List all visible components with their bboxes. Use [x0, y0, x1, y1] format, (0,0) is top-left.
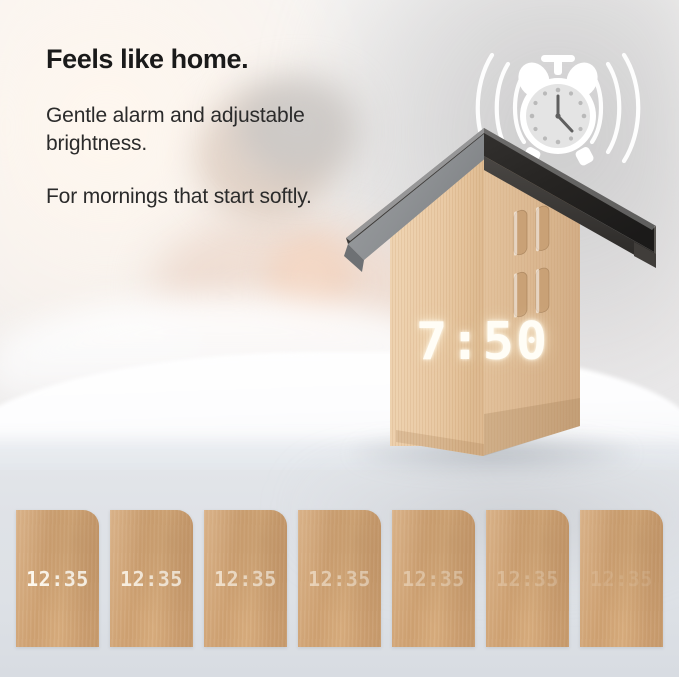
page-title: Feels like home.: [46, 44, 336, 76]
brightness-swatch[interactable]: 12:35: [580, 510, 663, 647]
brightness-level-strip: 12:35 12:35 12:35 12:35 12:35 12:35 12:3…: [16, 510, 666, 650]
feature-paragraph-2: For mornings that start softly.: [46, 183, 336, 211]
swatch-time: 12:35: [204, 567, 287, 591]
swatch-time: 12:35: [580, 567, 663, 591]
swatch-time: 12:35: [392, 567, 475, 591]
brightness-swatch[interactable]: 12:35: [486, 510, 569, 647]
product-marketing-image: Feels like home. Gentle alarm and adjust…: [0, 0, 679, 677]
brightness-swatch[interactable]: 12:35: [298, 510, 381, 647]
swatch-time: 12:35: [16, 567, 99, 591]
brightness-swatch[interactable]: 12:35: [392, 510, 475, 647]
brightness-swatch[interactable]: 12:35: [16, 510, 99, 647]
brightness-swatch[interactable]: 12:35: [110, 510, 193, 647]
clock-display-time: 7:50: [416, 312, 549, 372]
swatch-time: 12:35: [486, 567, 569, 591]
swatch-time: 12:35: [298, 567, 381, 591]
swatch-time: 12:35: [110, 567, 193, 591]
house-alarm-clock: [338, 126, 674, 474]
feature-paragraph-1: Gentle alarm and adjustable brightness.: [46, 102, 336, 157]
copy-block: Feels like home. Gentle alarm and adjust…: [46, 44, 336, 211]
brightness-swatch[interactable]: 12:35: [204, 510, 287, 647]
